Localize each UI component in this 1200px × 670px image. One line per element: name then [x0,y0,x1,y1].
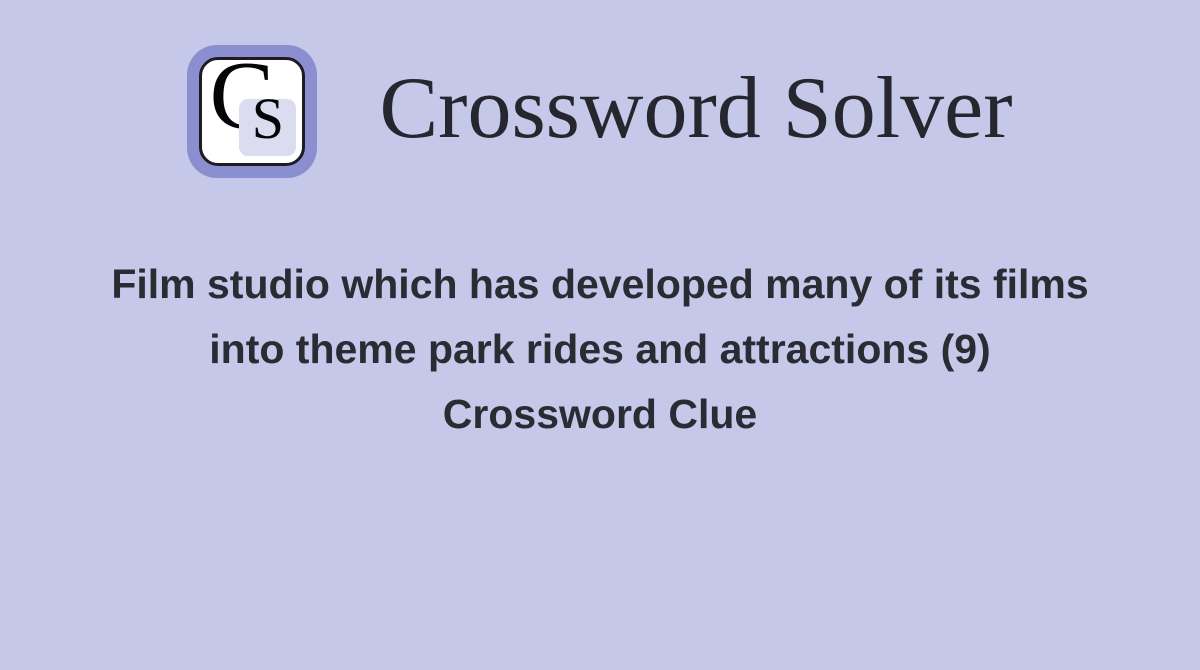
clue-text: Film studio which has developed many of … [111,261,1088,372]
site-header: C S Crossword Solver [0,45,1200,178]
logo-panel: C S [199,57,305,166]
site-logo[interactable]: C S [187,45,317,178]
logo-letter-s-badge: S [239,99,296,156]
logo-letter-s-icon: S [239,90,296,148]
site-title[interactable]: Crossword Solver [379,65,1012,159]
clue-suffix-label: Crossword Clue [100,382,1100,447]
clue-heading: Film studio which has developed many of … [100,252,1100,447]
page-root: C S Crossword Solver Film studio which h… [0,0,1200,670]
page-title: Film studio which has developed many of … [100,252,1100,447]
